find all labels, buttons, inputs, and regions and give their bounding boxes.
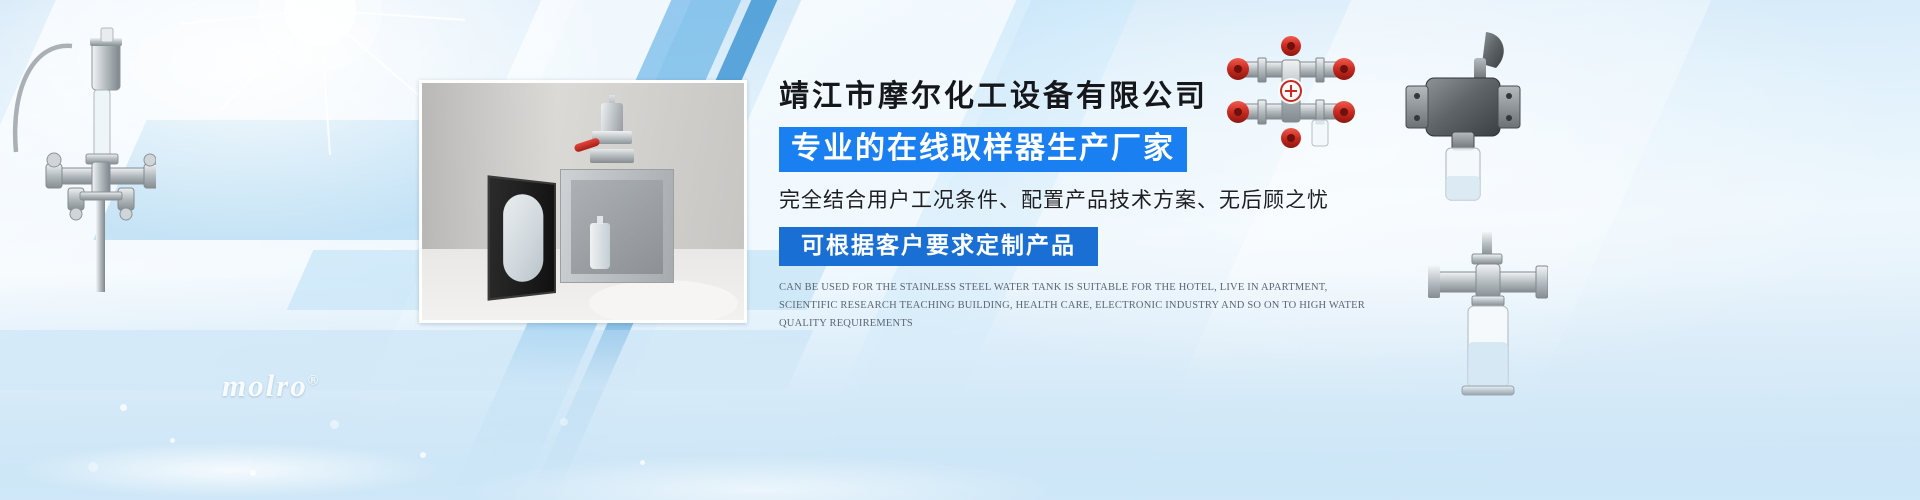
custom-order-badge: 可根据客户要求定制产品 [779,227,1098,266]
brand-watermark: molro® [222,368,320,404]
water-droplet [420,452,426,458]
sampler-assembly-icon [6,24,156,294]
water-droplet [120,404,127,411]
banner-text-block: 靖江市摩尔化工设备有限公司 专业的在线取样器生产厂家 完全结合用户工况条件、配置… [779,78,1389,334]
photo-cabinet [560,169,674,283]
photo-valve-head [590,97,634,173]
water-droplet [88,462,98,472]
company-name: 靖江市摩尔化工设备有限公司 [779,78,1389,116]
water-droplet [250,470,256,476]
water-droplet [330,420,339,429]
watermark-text: molro [222,368,308,403]
watermark-registered-mark: ® [308,374,320,389]
sampling-valve-icon [1428,230,1548,410]
water-droplet [170,438,175,443]
photo-sample-bottle [590,223,610,269]
english-fineprint: CAN BE USED FOR THE STAINLESS STEEL WATE… [779,279,1375,334]
water-droplet [640,460,645,465]
sub-headline: 完全结合用户工况条件、配置产品技术方案、无后顾之忧 [779,184,1389,214]
decor-band [0,330,813,390]
water-droplet [560,418,568,426]
product-banner: 靖江市摩尔化工设备有限公司 专业的在线取样器生产厂家 完全结合用户工况条件、配置… [0,0,1920,500]
headline-badge: 专业的在线取样器生产厂家 [779,127,1187,173]
online-sampler-cabinet-photo [419,80,747,323]
photo-cabinet-door [488,175,556,300]
flanged-valve-icon [1400,28,1526,208]
